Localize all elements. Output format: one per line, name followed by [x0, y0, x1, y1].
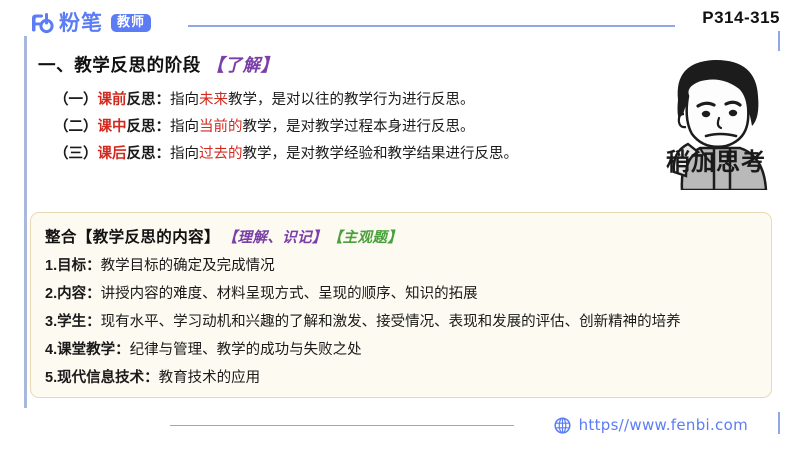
section-contents-tag-green: 【主观题】: [335, 230, 402, 246]
item-text: 教育技术的应用: [159, 370, 261, 386]
section-contents-tag-purple: 【理解、识记】: [230, 230, 327, 246]
item-number: （二）: [54, 119, 98, 135]
section-contents-title: 整合【教学反思的内容】【理解、识记】【主观题】: [45, 225, 755, 247]
item-keyword-rest: 反思：: [127, 92, 171, 108]
item-text: 纪律与管理、教学的成功与失败之处: [130, 342, 362, 358]
logo-text: 粉笔: [59, 10, 103, 36]
list-item: 2.内容：讲授内容的难度、材料呈现方式、呈现的顺序、知识的拓展: [45, 280, 755, 308]
item-highlight: 过去的: [199, 146, 243, 162]
item-label: 5.现代信息技术：: [45, 370, 159, 386]
section-stages-title-main: 一、教学反思的阶段: [38, 55, 201, 75]
item-label: 1.目标：: [45, 258, 101, 274]
list-item: （三）课后反思：指向过去的教学，是对教学经验和教学结果进行反思。: [38, 141, 658, 168]
item-number: （一）: [54, 92, 98, 108]
item-text-before: 指向: [170, 92, 199, 108]
item-keyword: 课前: [98, 92, 127, 108]
section-contents-title-main: 整合【教学反思的内容】: [45, 229, 220, 246]
section-stages-title: 一、教学反思的阶段 【了解】: [38, 52, 658, 77]
website-link[interactable]: https//www.fenbi.com: [554, 416, 748, 434]
item-number: （三）: [54, 146, 98, 162]
item-text: 教学目标的确定及完成情况: [101, 258, 275, 274]
list-item: 1.目标：教学目标的确定及完成情况: [45, 252, 755, 280]
page-number: P314-315: [702, 8, 780, 28]
item-text: 讲授内容的难度、材料呈现方式、呈现的顺序、知识的拓展: [101, 286, 478, 302]
item-keyword-rest: 反思：: [127, 146, 171, 162]
item-text-before: 指向: [170, 146, 199, 162]
fb-logo-icon: [28, 10, 54, 36]
section-stages-list: （一）课前反思：指向未来教学，是对以往的教学行为进行反思。 （二）课中反思：指向…: [38, 87, 658, 168]
page-footer: https//www.fenbi.com: [0, 404, 800, 450]
item-text-after: 教学，是对教学经验和教学结果进行反思。: [243, 146, 519, 162]
section-stages: 一、教学反思的阶段 【了解】 （一）课前反思：指向未来教学，是对以往的教学行为进…: [38, 52, 658, 168]
item-text-before: 指向: [170, 119, 199, 135]
item-label: 2.内容：: [45, 286, 101, 302]
section-stages-title-tag: 【了解】: [206, 55, 278, 75]
item-text: 现有水平、学习动机和兴趣的了解和激发、接受情况、表现和发展的评估、创新精神的培养: [101, 314, 681, 330]
mascot-caption: 稍加思考: [648, 142, 784, 177]
item-highlight: 未来: [199, 92, 228, 108]
list-item: 4.课堂教学：纪律与管理、教学的成功与失败之处: [45, 336, 755, 364]
item-keyword-rest: 反思：: [127, 119, 171, 135]
item-label: 3.学生：: [45, 314, 101, 330]
logo-badge: 教师: [111, 14, 151, 32]
item-text-after: 教学，是对教学过程本身进行反思。: [243, 119, 475, 135]
item-text-after: 教学，是对以往的教学行为进行反思。: [228, 92, 475, 108]
item-keyword: 课中: [98, 119, 127, 135]
item-highlight: 当前的: [199, 119, 243, 135]
section-contents-box: 整合【教学反思的内容】【理解、识记】【主观题】 1.目标：教学目标的确定及完成情…: [30, 212, 772, 398]
list-item: 5.现代信息技术：教育技术的应用: [45, 364, 755, 392]
list-item: （二）课中反思：指向当前的教学，是对教学过程本身进行反思。: [38, 114, 658, 141]
list-item: （一）课前反思：指向未来教学，是对以往的教学行为进行反思。: [38, 87, 658, 114]
page-header: 粉笔 教师 P314-315: [0, 0, 800, 46]
item-label: 4.课堂教学：: [45, 342, 130, 358]
globe-icon: [554, 417, 571, 434]
footer-divider: [170, 425, 514, 427]
header-divider: [188, 25, 675, 27]
left-accent-rail: [24, 36, 27, 408]
brand-logo: 粉笔 教师: [28, 10, 151, 36]
item-keyword: 课后: [98, 146, 127, 162]
list-item: 3.学生：现有水平、学习动机和兴趣的了解和激发、接受情况、表现和发展的评估、创新…: [45, 308, 755, 336]
bottom-right-corner-tick: [778, 412, 780, 434]
website-url: https//www.fenbi.com: [579, 416, 748, 434]
